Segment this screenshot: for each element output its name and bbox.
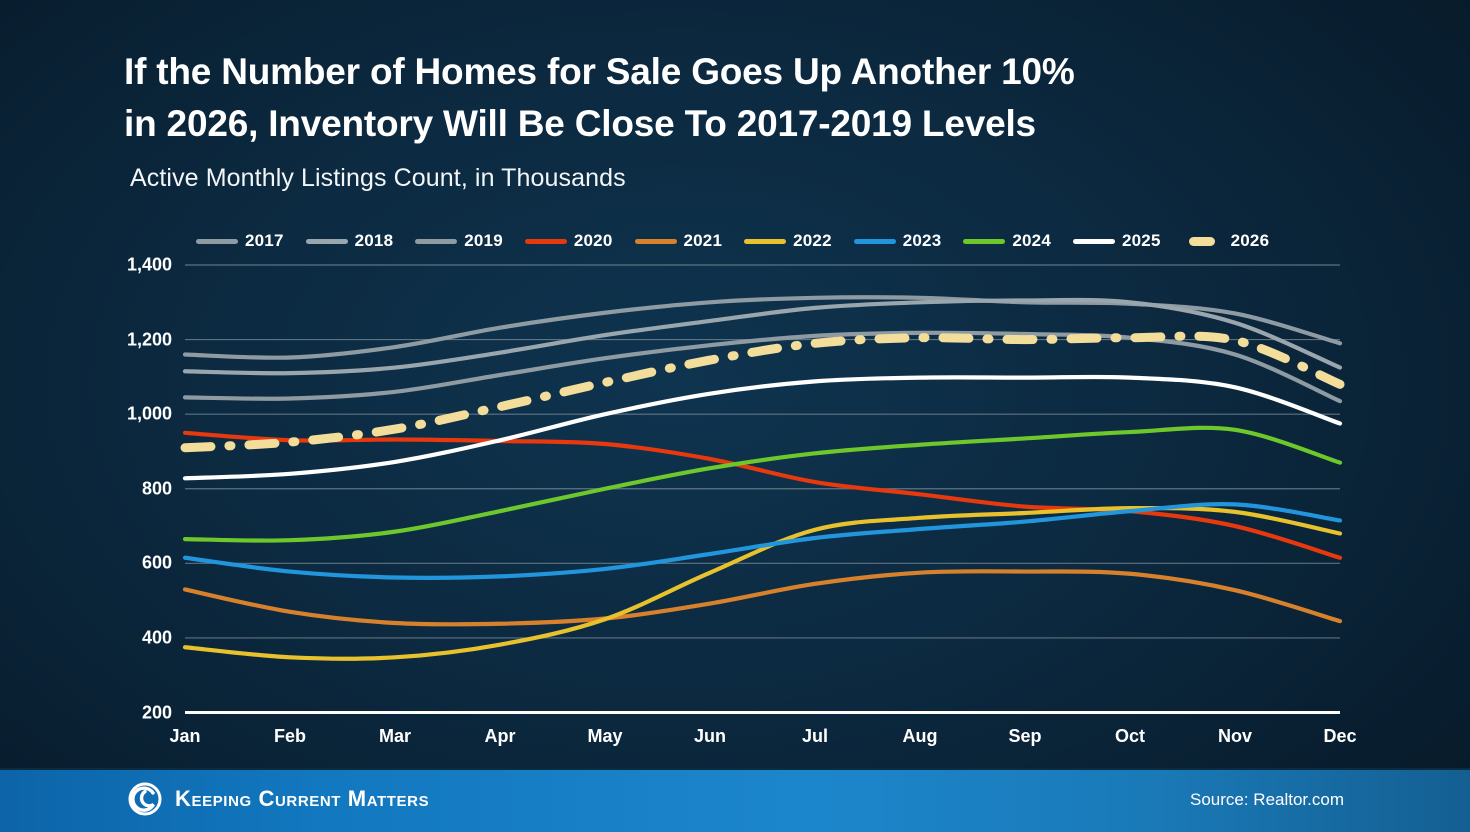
x-tick-label: Aug (880, 726, 960, 747)
x-tick-label: Feb (250, 726, 330, 747)
kcm-swirl-logo-icon (128, 782, 162, 816)
series-line-2021 (185, 571, 1340, 624)
brand-name: Keeping Current Matters (175, 786, 429, 812)
source-label: Source: Realtor.com (1190, 790, 1344, 810)
x-tick-label: Dec (1300, 726, 1380, 747)
line-chart-svg (0, 0, 1470, 832)
y-tick-label: 1,200 (82, 329, 172, 350)
chart-area: 2004006008001,0001,2001,400 JanFebMarApr… (0, 0, 1470, 832)
series-line-2018 (185, 300, 1340, 373)
brand-block: Keeping Current Matters (128, 782, 429, 816)
x-tick-label: Apr (460, 726, 540, 747)
y-tick-label: 800 (82, 478, 172, 499)
x-tick-label: Mar (355, 726, 435, 747)
footer-bar: Keeping Current Matters Source: Realtor.… (0, 768, 1470, 832)
x-tick-label: Sep (985, 726, 1065, 747)
x-tick-label: Jan (145, 726, 225, 747)
x-tick-label: Jul (775, 726, 855, 747)
y-tick-label: 600 (82, 553, 172, 574)
x-tick-label: Oct (1090, 726, 1170, 747)
y-tick-label: 1,000 (82, 404, 172, 425)
series-line-2022 (185, 508, 1340, 659)
y-axis-ticks: 2004006008001,0001,2001,400 (82, 0, 172, 832)
series-line-2020 (185, 433, 1340, 558)
y-tick-label: 1,400 (82, 255, 172, 276)
y-tick-label: 400 (82, 627, 172, 648)
series-line-2019 (185, 333, 1340, 401)
slide-root: If the Number of Homes for Sale Goes Up … (0, 0, 1470, 832)
y-tick-label: 200 (82, 702, 172, 723)
x-tick-label: Nov (1195, 726, 1275, 747)
x-tick-label: Jun (670, 726, 750, 747)
series-line-2024 (185, 428, 1340, 541)
x-tick-label: May (565, 726, 645, 747)
